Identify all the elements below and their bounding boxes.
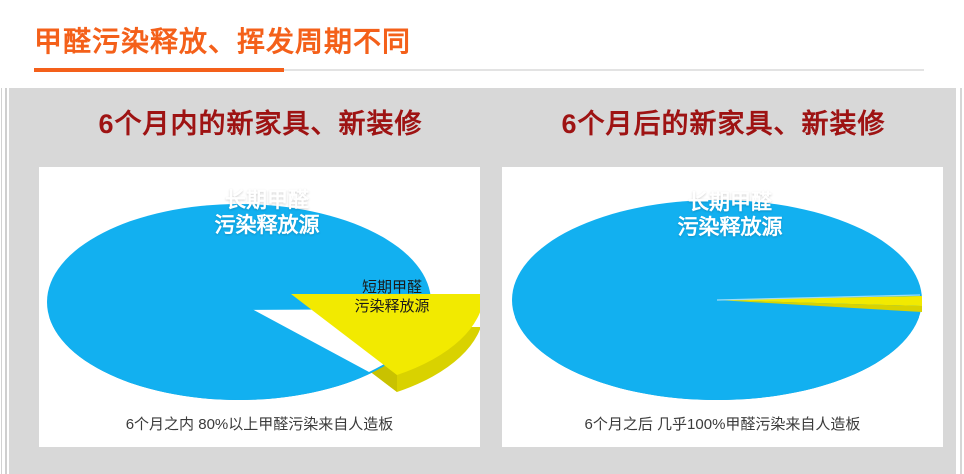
column-within-6-months: 6个月内的新家具、新装修: [30, 88, 491, 474]
page-title: 甲醛污染释放、挥发周期不同: [34, 20, 411, 60]
column-heading-right: 6个月后的新家具、新装修: [493, 102, 954, 141]
content-stage: 6个月内的新家具、新装修: [9, 88, 956, 474]
chart-caption-right: 6个月之后 几乎100%甲醛污染来自人造板: [502, 413, 943, 434]
chart-area-right: 长期甲醛 污染释放源: [502, 167, 943, 412]
column-heading-left: 6个月内的新家具、新装修: [30, 102, 491, 141]
chart-area-left: 长期甲醛 污染释放源 短期甲醛 污染释放源: [39, 167, 480, 412]
slide-header: 甲醛污染释放、挥发周期不同: [0, 0, 964, 88]
slide-root: 甲醛污染释放、挥发周期不同 6个月内的新家具、新装修: [0, 0, 964, 474]
chart-caption-left: 6个月之内 80%以上甲醛污染来自人造板: [39, 413, 480, 434]
pie-label-long-term-right: 长期甲醛 污染释放源: [610, 191, 850, 241]
title-underline-accent: [34, 68, 284, 72]
pie-label-short-term-left: 短期甲醛 污染释放源: [327, 279, 457, 317]
column-after-6-months: 6个月后的新家具、新装修: [493, 88, 954, 474]
chart-panel-right: 长期甲醛 污染释放源 6个月之后 几乎100%甲醛污染来自人造板: [502, 167, 943, 447]
chart-panel-left: 长期甲醛 污染释放源 短期甲醛 污染释放源 6个月之内 80%以上甲醛污染来自人…: [39, 167, 480, 447]
pie-label-long-term-left: 长期甲醛 污染释放源: [157, 189, 377, 239]
